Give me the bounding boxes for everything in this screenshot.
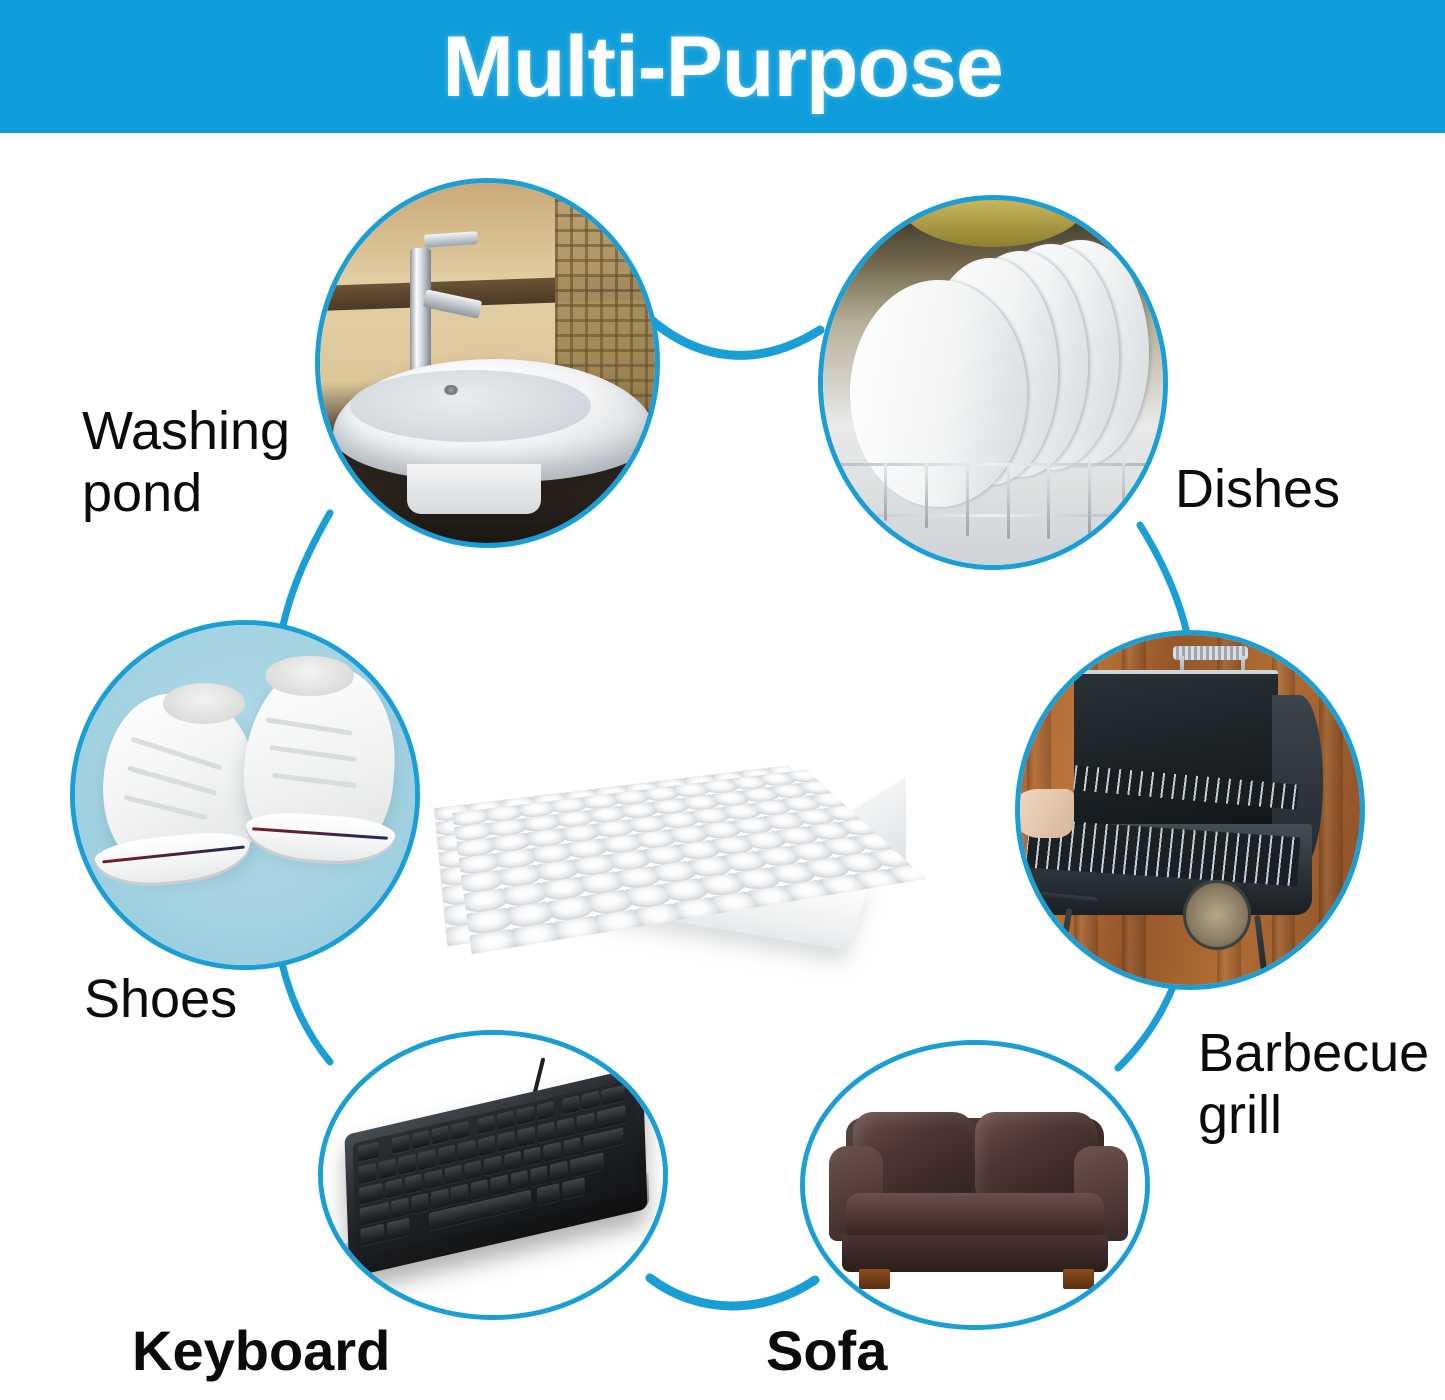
rack-tine: [1007, 463, 1010, 540]
keyboard-key: [518, 1127, 536, 1148]
keyboard-key: [602, 1085, 625, 1105]
keyboard-key: [458, 1141, 476, 1162]
keyboard-key: [517, 1106, 535, 1125]
keyboard-deck: [353, 1078, 640, 1257]
keyboard-key: [484, 1155, 502, 1176]
keyboard-key: [432, 1126, 450, 1145]
grill-photo: [1020, 635, 1360, 985]
keyboard-key: [385, 1178, 403, 1199]
arc-pond-dishes: [648, 317, 820, 355]
keyboard-key: [471, 1179, 489, 1200]
keyboard-key: [562, 1096, 580, 1115]
keyboard-key: [379, 1159, 397, 1180]
page-title: Multi-Purpose: [0, 20, 1445, 114]
sneaker-collar-right: [265, 656, 353, 697]
grill-vent: [1183, 880, 1251, 950]
label-sofa: Sofa: [766, 1320, 887, 1382]
rack-tine: [1047, 463, 1050, 540]
header-banner: Multi-Purpose: [0, 0, 1445, 133]
rack-tine: [966, 463, 969, 536]
keyboard-key: [445, 1164, 463, 1185]
keyboard-key: [392, 1197, 410, 1218]
rack-tine: [1122, 448, 1125, 528]
lid-handle: [1173, 646, 1248, 660]
keyboard-key: [358, 1142, 378, 1161]
keyboard-key: [392, 1135, 410, 1154]
keyboard-key: [564, 1137, 582, 1158]
keyboard-key: [582, 1091, 600, 1110]
node-barbecue-grill[interactable]: [1015, 630, 1365, 990]
sofa-foot: [859, 1269, 890, 1289]
sofa-base: [842, 1235, 1107, 1271]
label-shoes: Shoes: [84, 968, 237, 1030]
keyboard-key: [511, 1170, 529, 1191]
node-dishes[interactable]: [818, 195, 1168, 570]
keyboard-photo: [323, 1035, 663, 1315]
keyboard-key: [477, 1115, 495, 1134]
keyboard-key: [531, 1165, 549, 1186]
infographic-canvas: Multi-Purpose: [0, 0, 1445, 1400]
grill-leg: [1254, 915, 1268, 978]
keyboard-key: [491, 1174, 509, 1195]
sink-bowl-interior: [350, 370, 591, 442]
keyboard-key: [597, 1106, 626, 1130]
faucet-body: [410, 248, 430, 378]
node-sofa[interactable]: [800, 1040, 1150, 1330]
faucet-lever: [423, 232, 477, 249]
rack-tine: [1088, 456, 1091, 536]
keyboard-key: [577, 1113, 595, 1134]
keyboard-key: [537, 1183, 560, 1205]
keyboard-key: [425, 1169, 443, 1190]
keyboard-key: [451, 1184, 469, 1205]
center-product-sponge: [455, 595, 925, 1005]
keyboard-key: [562, 1177, 585, 1199]
keyboard-key: [478, 1136, 496, 1157]
keyboard-key: [399, 1154, 417, 1175]
keyboard-key: [360, 1183, 383, 1205]
keyboard-key: [412, 1193, 430, 1214]
keyboard-key: [550, 1161, 568, 1182]
shoes-photo: [75, 625, 415, 965]
keyboard-key: [387, 1218, 410, 1240]
keyboard-key: [537, 1102, 555, 1121]
keyboard-key: [544, 1141, 562, 1162]
keyboard-key: [557, 1118, 575, 1139]
label-barbecue-grill: Barbecue grill: [1198, 1022, 1438, 1146]
kitchen-backsplash: [898, 200, 1088, 247]
fence-plank: [1319, 635, 1343, 985]
sofa-photo: [805, 1045, 1145, 1325]
keyboard-key: [570, 1152, 605, 1177]
keyboard-key: [359, 1163, 377, 1184]
rack-tine: [925, 463, 928, 529]
label-keyboard: Keyboard: [132, 1320, 390, 1382]
keyboard-key: [465, 1160, 483, 1181]
sofa-foot: [1063, 1269, 1094, 1289]
keyboard-key: [412, 1130, 430, 1149]
keyboard-key: [504, 1151, 522, 1172]
keyboard-key: [524, 1146, 542, 1167]
dishes-photo: [823, 200, 1163, 565]
keyboard-key: [361, 1202, 390, 1226]
node-keyboard[interactable]: [318, 1030, 668, 1320]
arc-keyboard-sofa: [650, 1278, 815, 1306]
keyboard-key: [497, 1111, 515, 1130]
keyboard-key: [419, 1150, 437, 1171]
node-shoes[interactable]: [70, 620, 420, 970]
sofa-seat-cushions: [846, 1193, 1104, 1241]
rack-tine: [884, 463, 887, 521]
keyboard-key: [538, 1122, 556, 1143]
keyboard-key: [584, 1127, 624, 1153]
keyboard-key: [498, 1131, 516, 1152]
keyboard-key: [361, 1224, 384, 1246]
keyboard-key: [431, 1188, 449, 1209]
node-washing-pond[interactable]: [315, 178, 660, 548]
grill-leg: [1055, 908, 1072, 978]
label-dishes: Dishes: [1175, 458, 1340, 520]
keyboard-body: [345, 1067, 648, 1278]
sink-photo: [320, 183, 655, 543]
keyboard-key: [405, 1174, 423, 1195]
sneaker-collar-left: [163, 683, 245, 724]
keyboard-key: [452, 1121, 470, 1140]
plate: [850, 280, 1027, 506]
hand: [1015, 789, 1074, 838]
sink-pedestal: [407, 464, 541, 514]
label-washing-pond: Washing pond: [82, 400, 342, 524]
keyboard-key: [438, 1145, 456, 1166]
